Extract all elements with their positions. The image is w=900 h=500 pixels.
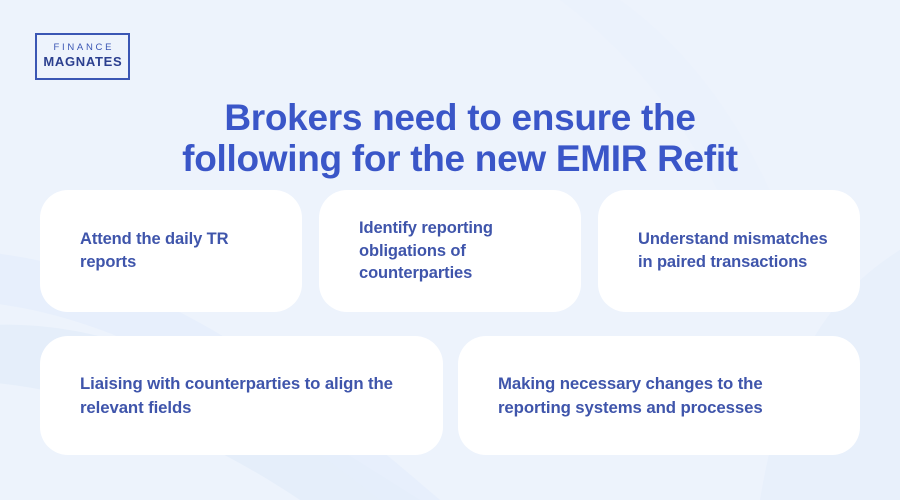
- card-text: Identify reporting obligations of counte…: [359, 217, 555, 285]
- card-text: Making necessary changes to the reportin…: [498, 372, 834, 418]
- card-text: Understand mismatches in paired transact…: [638, 228, 834, 274]
- card-identify-reporting-obligations: Identify reporting obligations of counte…: [319, 190, 581, 312]
- logo-text-finance: FINANCE: [51, 43, 114, 54]
- cards-row-1: Attend the daily TR reports Identify rep…: [40, 190, 860, 312]
- card-attend-daily-tr-reports: Attend the daily TR reports: [40, 190, 302, 312]
- infographic-canvas: FINANCE MAGNATES Brokers need to ensure …: [0, 0, 900, 500]
- card-making-necessary-changes: Making necessary changes to the reportin…: [458, 336, 860, 455]
- card-liaising-with-counterparties: Liaising with counterparties to align th…: [40, 336, 443, 455]
- card-text: Attend the daily TR reports: [80, 228, 276, 274]
- card-understand-mismatches: Understand mismatches in paired transact…: [598, 190, 860, 312]
- page-title: Brokers need to ensure the following for…: [150, 97, 770, 180]
- brand-logo: FINANCE MAGNATES: [35, 33, 130, 80]
- card-text: Liaising with counterparties to align th…: [80, 372, 417, 418]
- logo-text-magnates: MAGNATES: [43, 54, 123, 70]
- cards-row-2: Liaising with counterparties to align th…: [40, 336, 860, 455]
